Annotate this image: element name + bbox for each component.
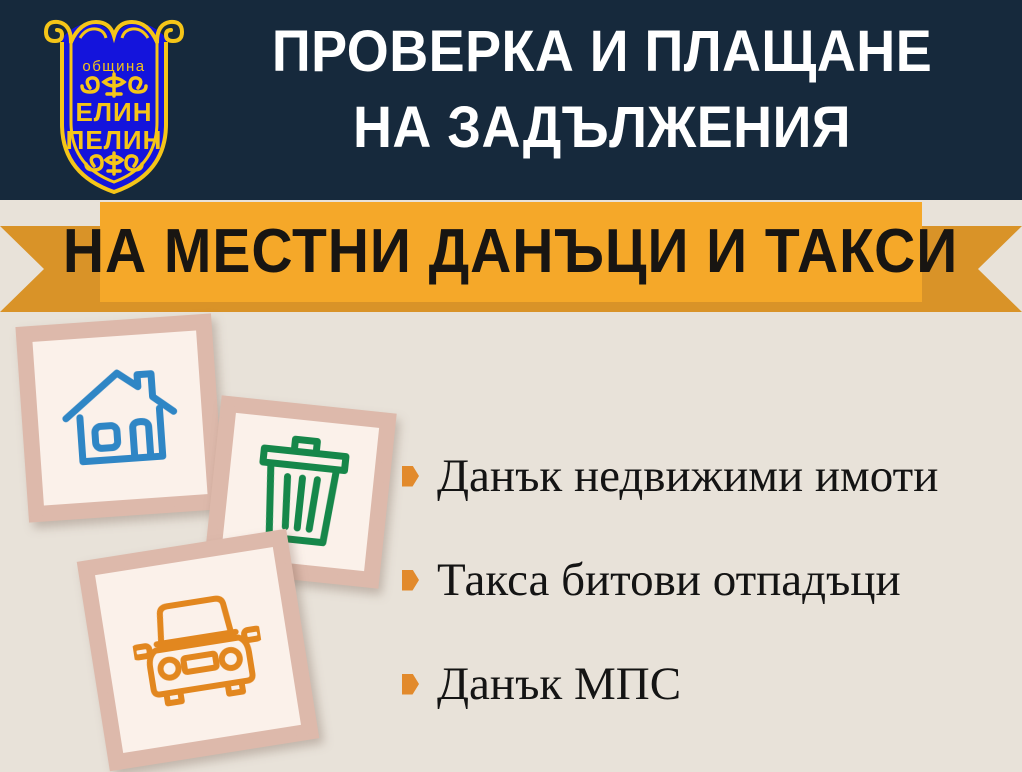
header-banner: община ЕЛИН ПЕЛИН	[0, 0, 1022, 200]
car-icon	[127, 589, 270, 712]
stamp-card-house	[15, 313, 224, 522]
arrow-right-bullet-icon	[402, 674, 419, 695]
list-item[interactable]: Такса битови отпадъци	[402, 528, 1014, 632]
stamp-card-group	[0, 300, 420, 772]
ribbon-label: НА МЕСТНИ ДАНЪЦИ И ТАКСИ	[63, 221, 958, 283]
ribbon-panel: НА МЕСТНИ ДАНЪЦИ И ТАКСИ	[100, 202, 922, 302]
list-item-label: Данък МПС	[437, 659, 681, 709]
tax-type-list: Данък недвижими имоти Такса битови отпад…	[402, 424, 1014, 736]
list-item-label: Данък недвижими имоти	[437, 451, 938, 501]
list-item[interactable]: Данък МПС	[402, 632, 1014, 736]
page-title: ПРОВЕРКА И ПЛАЩАНЕ НА ЗАДЪЛЖЕНИЯ	[196, 14, 1008, 166]
stamp-card-car	[77, 529, 320, 772]
title-line-1: ПРОВЕРКА И ПЛАЩАНЕ	[224, 14, 979, 90]
list-item-label: Такса битови отпадъци	[437, 555, 901, 605]
crest-name-line1: ЕЛИН	[75, 97, 152, 127]
list-item[interactable]: Данък недвижими имоти	[402, 424, 1014, 528]
poster-root: община ЕЛИН ПЕЛИН	[0, 0, 1022, 772]
stamp-card-house-paper	[32, 330, 207, 505]
house-icon	[56, 359, 183, 477]
subtitle-ribbon: НА МЕСТНИ ДАНЪЦИ И ТАКСИ	[0, 200, 1022, 312]
arrow-right-bullet-icon	[402, 466, 419, 487]
crest-name-line2: ПЕЛИН	[66, 125, 163, 155]
coat-of-arms-shield-icon: община ЕЛИН ПЕЛИН	[38, 8, 190, 194]
title-line-2: НА ЗАДЪЛЖЕНИЯ	[224, 90, 979, 166]
stamp-card-car-paper	[95, 547, 301, 753]
arrow-right-bullet-icon	[402, 570, 419, 591]
